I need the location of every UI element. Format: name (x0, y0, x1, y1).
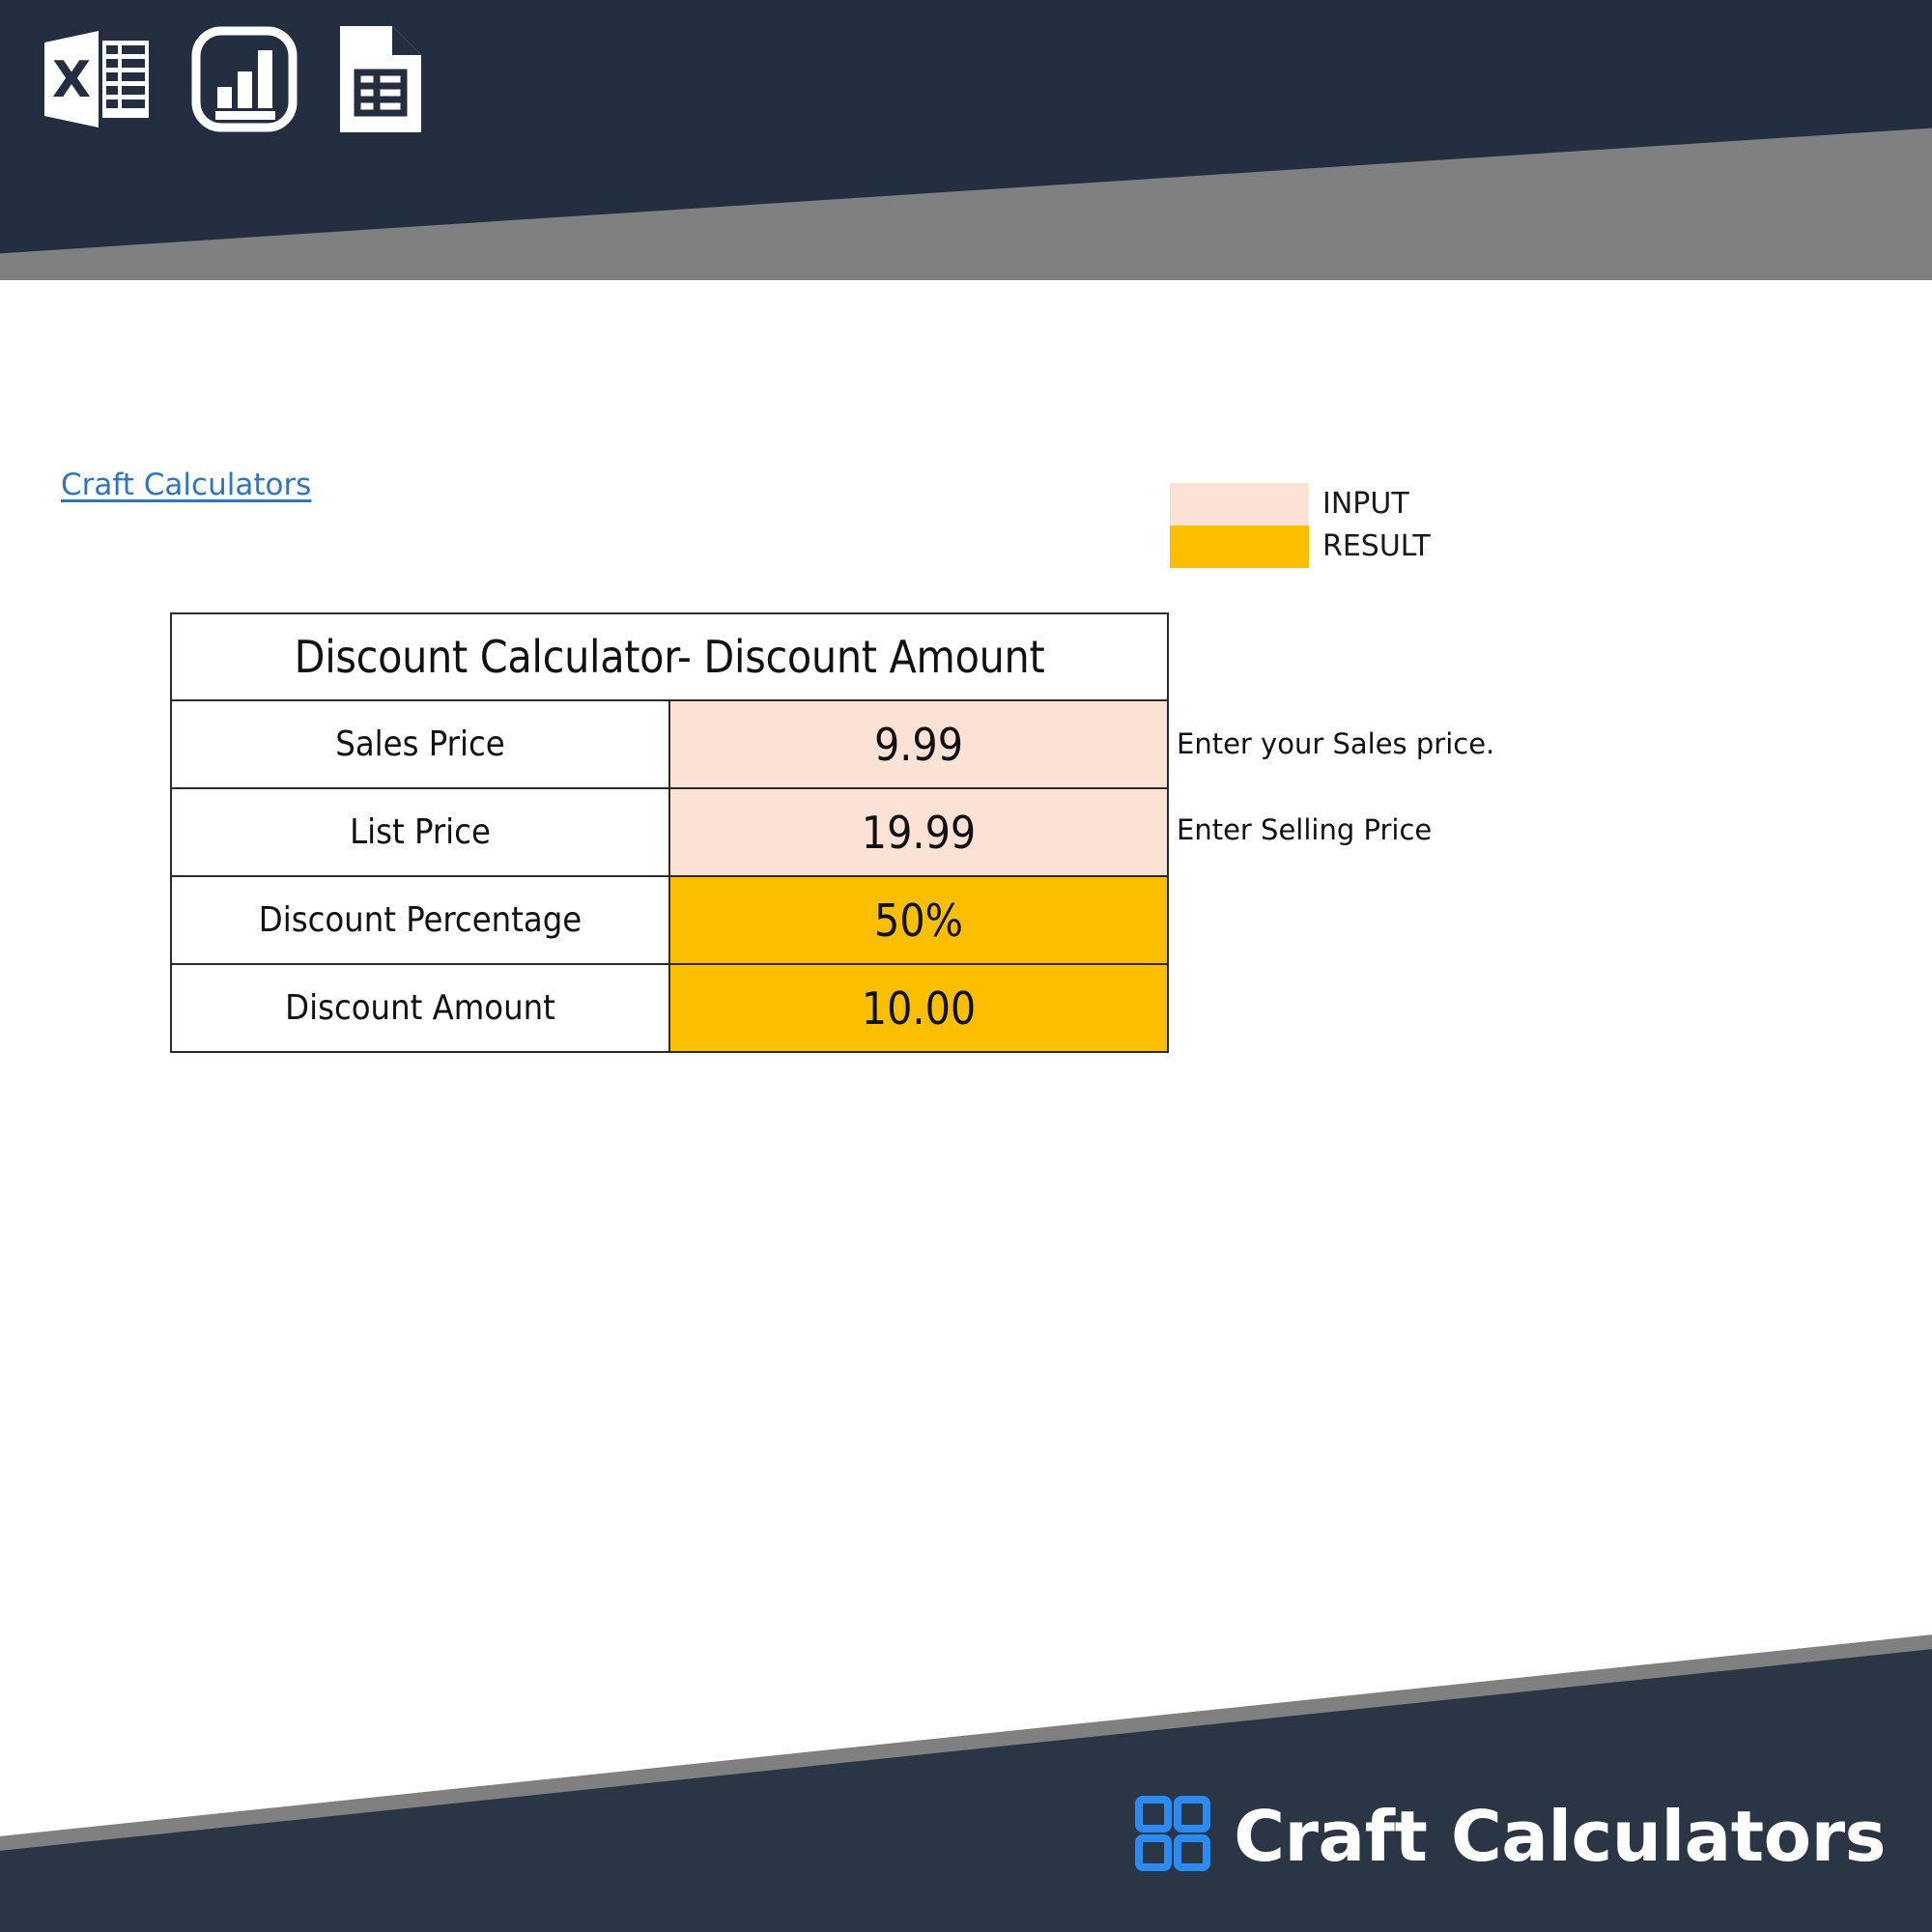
result-color-swatch (1170, 526, 1309, 568)
calculator-title: Discount Calculator- Discount Amount (171, 613, 1168, 700)
input-color-swatch (1170, 483, 1309, 526)
row-value-list-price[interactable]: 19.99 (669, 788, 1168, 876)
row-value-discount-amount: 10.00 (669, 964, 1168, 1052)
header-icon-group: X (39, 21, 427, 137)
svg-text:X: X (52, 51, 91, 109)
footer-brand-name: Craft Calculators (1234, 1802, 1886, 1871)
row-label-sales-price: Sales Price (171, 700, 669, 788)
row-label-discount-amount: Discount Amount (171, 964, 669, 1052)
craft-calculators-link[interactable]: Craft Calculators (61, 468, 311, 502)
excel-file-icon: X (39, 21, 155, 137)
legend-item-input: INPUT (1170, 483, 1431, 526)
table-row: Discount Percentage 50% (171, 876, 1168, 964)
bar-chart-icon (191, 26, 298, 132)
row-label-discount-percentage: Discount Percentage (171, 876, 669, 964)
table-row: List Price 19.99 (171, 788, 1168, 876)
hint-list-price: Enter Selling Price (1177, 813, 1432, 846)
slide-canvas: X (0, 0, 1932, 1932)
legend-label-result: RESULT (1322, 526, 1431, 568)
discount-calculator-table: Discount Calculator- Discount Amount Sal… (170, 612, 1169, 1053)
row-label-list-price: List Price (171, 788, 669, 876)
four-squares-grid-icon (1135, 1796, 1210, 1876)
table-title-row: Discount Calculator- Discount Amount (171, 613, 1168, 700)
legend-label-input: INPUT (1322, 483, 1409, 526)
footer-brand: Craft Calculators (1135, 1796, 1886, 1876)
legend-item-result: RESULT (1170, 526, 1431, 568)
table-row: Discount Amount 10.00 (171, 964, 1168, 1052)
row-value-discount-percentage: 50% (669, 876, 1168, 964)
table-row: Sales Price 9.99 (171, 700, 1168, 788)
color-legend: INPUT RESULT (1170, 483, 1431, 568)
sheet-content: Craft Calculators INPUT RESULT Discount … (0, 0, 1932, 1932)
row-value-sales-price[interactable]: 9.99 (669, 700, 1168, 788)
spreadsheet-document-icon (334, 22, 427, 136)
hint-sales-price: Enter your Sales price. (1177, 727, 1494, 760)
